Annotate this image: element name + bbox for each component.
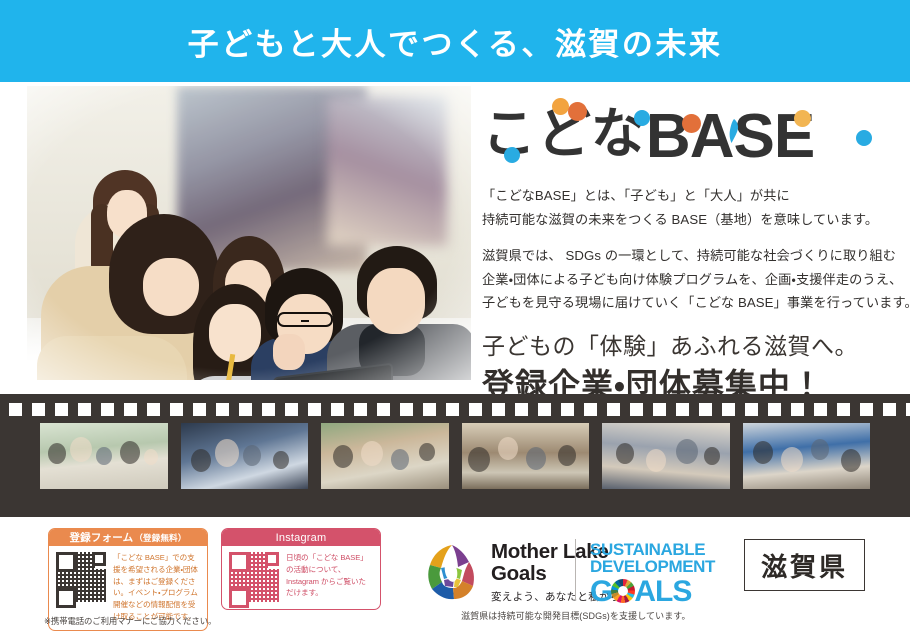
intro-paragraph-2: 滋賀県では、 SDGs の一環として、持続可能な社会づくりに取り組む 企業・団体… [482, 244, 882, 315]
filmstrip-photo-3 [321, 423, 449, 489]
filmstrip-figure-blob [361, 441, 383, 466]
filmstrip-figure-blob [781, 447, 803, 472]
sprocket-hole [676, 403, 689, 416]
lake-biwa-icon [727, 118, 741, 144]
sprocket-hole [239, 403, 252, 416]
filmstrip-photo-2 [181, 423, 309, 489]
sprocket-hole [377, 403, 390, 416]
sprocket-hole [814, 403, 827, 416]
logo-dot-yellow-1 [552, 98, 569, 115]
filmstrip-figure-blob [391, 449, 409, 470]
sprocket-hole [170, 403, 183, 416]
sprocket-hole [262, 403, 275, 416]
instagram-card-header: Instagram [222, 529, 380, 546]
sdg-goals-word: G ALS [590, 576, 715, 608]
logo-dot-orange-2 [682, 114, 701, 133]
intro-p2-line-2: 企業・団体による子ども向け体験プログラムを、企画・支援伴走のうえ、 [482, 268, 882, 292]
poster-root: 子どもと大人でつくる、滋賀の未来 [0, 0, 910, 643]
filmstrip-sprockets-top [0, 403, 910, 416]
sprocket-hole [906, 403, 910, 416]
sprocket-hole [538, 403, 551, 416]
qr-finder-mark [265, 552, 279, 566]
hero-photo [27, 86, 471, 380]
filmstrip-figure-blob [468, 447, 490, 472]
sprocket-hole [722, 403, 735, 416]
sprocket-hole [607, 403, 620, 416]
sprocket-hole [308, 403, 321, 416]
sprocket-hole [101, 403, 114, 416]
filmstrip-figure-blob [526, 447, 546, 470]
filmstrip-figure-blob [70, 437, 92, 462]
sdg-goals-g: G [590, 576, 612, 608]
sdg-support-note: 滋賀県は持続可能な開発目標(SDGs)を支援しています。 [461, 609, 691, 622]
logo-dot-yellow-2 [794, 110, 811, 127]
sprocket-hole [354, 403, 367, 416]
qr-finder-mark [92, 552, 106, 566]
tagline-line-1: 子どもの「体験」あふれる滋賀へ。 [482, 332, 882, 362]
instagram-card-title: Instagram [276, 532, 327, 544]
sprocket-hole [653, 403, 666, 416]
logo-dot-cyan-1 [634, 110, 650, 126]
header-banner: 子どもと大人でつくる、滋賀の未来 [0, 0, 910, 82]
filmstrip-figure-blob [215, 439, 239, 467]
filmstrip-figure-blob [616, 443, 634, 464]
sprocket-hole [561, 403, 574, 416]
hero-vignette [27, 86, 471, 380]
sprocket-hole [745, 403, 758, 416]
right-column: こどな BASE 「こどなBASE」とは、「子ども」と「大人」が共に 持続可能な… [482, 92, 882, 405]
sdg-logo: SUSTAINABLE DEVELOPMENT G ALS [590, 541, 715, 607]
sprocket-hole [837, 403, 850, 416]
filmstrip-figure-blob [243, 445, 261, 466]
filmstrip-figure-blob [419, 443, 435, 461]
kodona-base-logo: こどな BASE [482, 92, 882, 168]
logo-dot-orange-1 [568, 102, 587, 121]
filmstrip-figure-blob [811, 439, 829, 460]
filmstrip-figure-blob [558, 445, 576, 466]
sprocket-hole [492, 403, 505, 416]
logo-dot-cyan-3 [856, 130, 872, 146]
filmstrip-photo-1 [40, 423, 168, 489]
sprocket-hole [400, 403, 413, 416]
sprocket-hole [193, 403, 206, 416]
sprocket-hole [469, 403, 482, 416]
registration-card-description: 「こどな BASE」での支援を希望される企業・団体は、まずはご登録ください。イベ… [113, 552, 200, 623]
sdg-line-1: SUSTAINABLE [590, 541, 715, 558]
filmstrip [0, 394, 910, 517]
sprocket-hole [78, 403, 91, 416]
mother-lake-sphere-icon [423, 543, 481, 601]
filmstrip-figure-blob [96, 447, 112, 465]
prefecture-name: 滋賀県 [761, 547, 848, 584]
filmstrip-photos [40, 423, 870, 489]
intro-p1-line-2: 持続可能な滋賀の未来をつくる BASE（基地）を意味しています。 [482, 208, 882, 232]
instagram-card[interactable]: Instagram 日頃の「こどな BASE」の活動について、Instagram… [221, 528, 381, 610]
sprocket-hole [768, 403, 781, 416]
filmstrip-figure-blob [676, 439, 698, 464]
sprocket-hole [423, 403, 436, 416]
filmstrip-figure-blob [646, 449, 666, 472]
filmstrip-figure-blob [273, 451, 289, 469]
sprocket-hole [883, 403, 896, 416]
intro-p1-line-1: 「こどなBASE」とは、「子ども」と「大人」が共に [482, 184, 882, 208]
sprocket-hole [331, 403, 344, 416]
footer-divider [575, 539, 576, 601]
registration-qr-code[interactable] [56, 552, 106, 602]
filmstrip-figure-blob [498, 437, 518, 460]
intro-paragraph-1: 「こどなBASE」とは、「子ども」と「大人」が共に 持続可能な滋賀の未来をつくる… [482, 184, 882, 231]
sdg-goals-als: ALS [634, 576, 691, 608]
registration-card-title: 登録フォーム [69, 530, 133, 545]
sprocket-hole [630, 403, 643, 416]
mobile-manner-note: ※携帯電話のご利用マナーにご協力ください。 [44, 615, 216, 627]
sprocket-hole [515, 403, 528, 416]
filmstrip-photo-4 [462, 423, 590, 489]
sprocket-hole [285, 403, 298, 416]
filmstrip-figure-blob [704, 447, 720, 465]
registration-card-subtitle: （登録無料） [134, 532, 186, 544]
sprocket-hole [699, 403, 712, 416]
sprocket-hole [216, 403, 229, 416]
filmstrip-figure-blob [48, 443, 66, 464]
filmstrip-figure-blob [120, 441, 140, 464]
filmstrip-figure-blob [144, 449, 158, 465]
instagram-card-description: 日頃の「こどな BASE」の活動について、Instagram からご覧いただけま… [286, 552, 373, 602]
sprocket-hole [860, 403, 873, 416]
prefecture-badge: 滋賀県 [744, 539, 865, 591]
instagram-qr-code[interactable] [229, 552, 279, 602]
filmstrip-figure-blob [753, 441, 773, 464]
sprocket-hole [124, 403, 137, 416]
sprocket-hole [32, 403, 45, 416]
logo-dot-cyan-2 [504, 147, 520, 163]
sdg-wheel-icon [611, 579, 635, 603]
filmstrip-photo-6 [743, 423, 871, 489]
registration-card-header: 登録フォーム（登録無料） [49, 529, 207, 546]
filmstrip-figure-blob [841, 449, 861, 472]
sprocket-hole [791, 403, 804, 416]
instagram-card-body: 日頃の「こどな BASE」の活動について、Instagram からご覧いただけま… [222, 546, 380, 609]
intro-p2-line-3: 子どもを見守る現場に届けていく「こどな BASE」事業を行っています。 [482, 291, 882, 315]
sprocket-hole [55, 403, 68, 416]
filmstrip-figure-blob [191, 449, 211, 472]
filmstrip-figure-blob [333, 445, 353, 468]
sprocket-hole [147, 403, 160, 416]
intro-p2-line-1: 滋賀県では、 SDGs の一環として、持続可能な社会づくりに取り組む [482, 244, 882, 268]
footer-bar: 登録フォーム（登録無料） 「こどな BASE」での支援を希望される企業・団体は、… [0, 517, 910, 643]
sdg-line-2: DEVELOPMENT [590, 558, 715, 575]
header-title: 子どもと大人でつくる、滋賀の未来 [188, 19, 723, 64]
sprocket-hole [446, 403, 459, 416]
filmstrip-photo-5 [602, 423, 730, 489]
sprocket-hole [584, 403, 597, 416]
sprocket-hole [9, 403, 22, 416]
